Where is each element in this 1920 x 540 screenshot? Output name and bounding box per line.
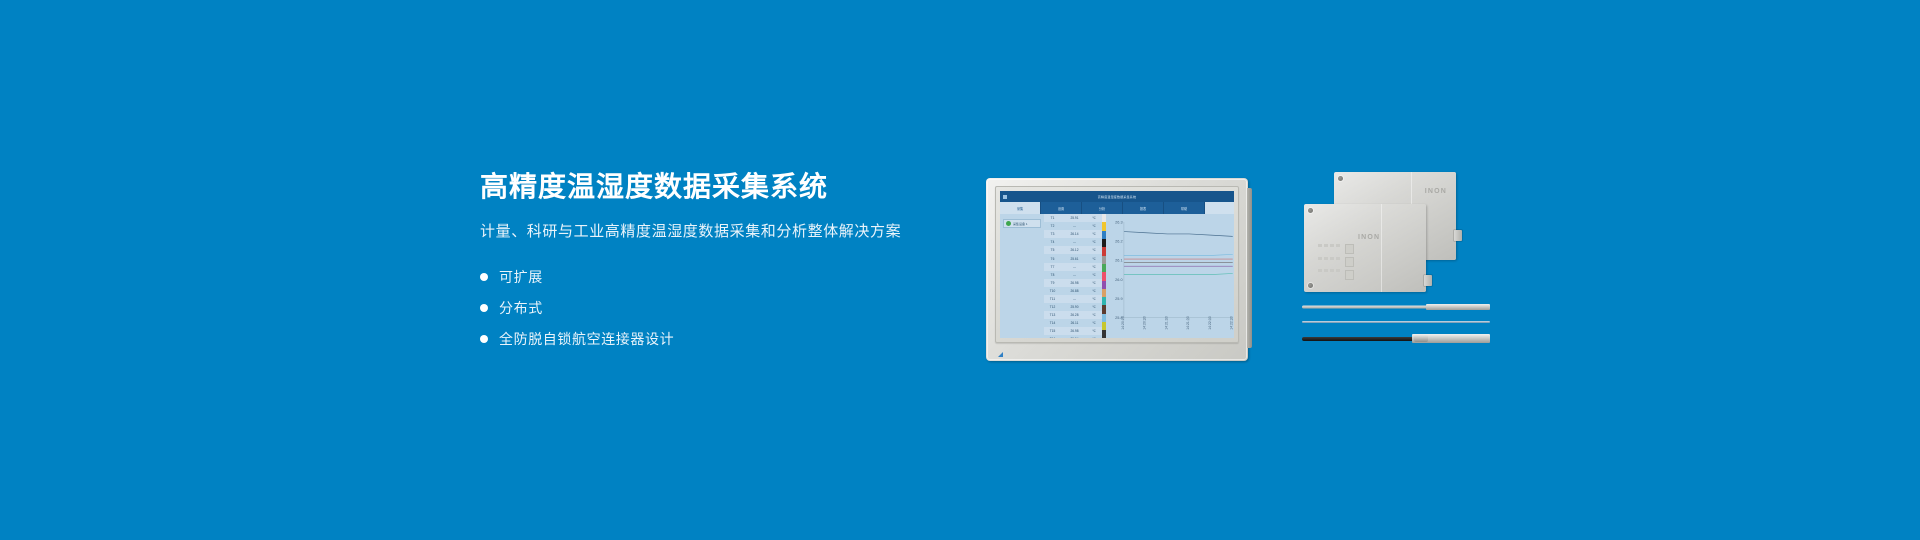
table-row[interactable]: T125.91℃ — [1044, 214, 1102, 222]
feature-list: 可扩展 分布式 全防脱自锁航空连接器设计 — [480, 261, 950, 354]
probe-cable — [1302, 306, 1428, 309]
connector-port — [1454, 230, 1462, 241]
value-cell: --- — [1061, 240, 1088, 244]
y-tick-label: 26.0 — [1115, 277, 1123, 282]
table-row[interactable]: T1625.94℃ — [1044, 335, 1102, 338]
channel-cell: T14 — [1044, 321, 1061, 325]
aviation-connector-probe — [1302, 334, 1490, 343]
x-tick-label: 14:20:10 — [1121, 316, 1125, 330]
table-row[interactable]: T4---℃ — [1044, 238, 1102, 246]
probe-cable — [1302, 321, 1490, 323]
channel-cell: T13 — [1044, 313, 1061, 317]
channel-cell: T1 — [1044, 216, 1061, 220]
app-menu-icon[interactable] — [1003, 195, 1007, 199]
monitor-side-edge — [1247, 188, 1252, 348]
x-tick-label: 14:22:00 — [1208, 316, 1212, 330]
x-tick-label: 14:20:30 — [1143, 316, 1147, 330]
trend-chart[interactable]: 26.326.226.126.025.925.814:20:1014:20:30… — [1106, 214, 1234, 338]
channel-cell: T5 — [1044, 248, 1061, 252]
value-cell: --- — [1061, 297, 1088, 301]
value-cell: --- — [1061, 273, 1088, 277]
channel-cell: T12 — [1044, 305, 1061, 309]
unit-cell: ℃ — [1088, 297, 1100, 301]
screw-icon — [1308, 283, 1313, 288]
terminal-block — [1318, 244, 1354, 280]
tab-help[interactable]: 帮助 — [1164, 202, 1205, 214]
value-cell: 25.90 — [1061, 305, 1088, 309]
unit-cell: ℃ — [1088, 224, 1100, 228]
industrial-panel-pc: 高精度温湿度数据采集系统 采集 设置 分析 报表 帮助 采集设备 1 — [986, 178, 1248, 361]
unit-cell: ℃ — [1088, 281, 1100, 285]
channel-cell: T15 — [1044, 329, 1061, 333]
value-cell: 25.61 — [1061, 257, 1088, 261]
table-row[interactable]: T1426.11℃ — [1044, 319, 1102, 327]
connector-port — [1424, 275, 1432, 286]
chart-axes — [1124, 222, 1233, 318]
app-window-title: 高精度温湿度数据采集系统 — [1098, 195, 1136, 199]
tab-analysis[interactable]: 分析 — [1082, 202, 1123, 214]
slim-probe — [1302, 320, 1490, 324]
value-cell: 25.91 — [1061, 216, 1088, 220]
value-cell: 26.98 — [1061, 329, 1088, 333]
feature-label: 可扩展 — [499, 267, 543, 287]
chart-line-T1 — [1124, 232, 1233, 237]
unit-cell: ℃ — [1088, 305, 1100, 309]
table-row[interactable]: T526.12℃ — [1044, 246, 1102, 254]
value-cell: 25.94 — [1061, 337, 1088, 338]
channel-cell: T8 — [1044, 273, 1061, 277]
list-item: 可扩展 — [480, 261, 950, 292]
value-cell: --- — [1061, 265, 1088, 269]
channel-table[interactable]: T125.91℃T2---℃T326.14℃T4---℃T526.12℃T625… — [1044, 214, 1102, 338]
bullet-dot-icon — [480, 273, 488, 281]
list-item: 分布式 — [480, 292, 950, 323]
channel-cell: T6 — [1044, 257, 1061, 261]
table-row[interactable]: T1225.90℃ — [1044, 303, 1102, 311]
value-cell: --- — [1061, 224, 1088, 228]
app-titlebar: 高精度温湿度数据采集系统 — [1000, 191, 1234, 202]
enclosure-lid — [1381, 204, 1426, 292]
table-row[interactable]: T1526.98℃ — [1044, 327, 1102, 335]
channel-cell: T11 — [1044, 297, 1061, 301]
device-label: 采集设备 1 — [1013, 222, 1028, 226]
page-subtitle: 计量、科研与工业高精度温湿度数据采集和分析整体解决方案 — [480, 222, 950, 242]
x-tick-label: 14:21:30 — [1186, 316, 1190, 330]
feature-label: 全防脱自锁航空连接器设计 — [499, 329, 674, 349]
unit-cell: ℃ — [1088, 265, 1100, 269]
value-cell: 26.88 — [1061, 289, 1088, 293]
status-dot-icon — [1006, 221, 1011, 226]
y-tick-label: 26.2 — [1115, 238, 1122, 243]
y-tick-label: 25.9 — [1115, 296, 1122, 301]
page-title: 高精度温湿度数据采集系统 — [480, 172, 950, 203]
app-body: 采集设备 1 T125.91℃T2---℃T326.14℃T4---℃T526.… — [1000, 214, 1234, 338]
unit-cell: ℃ — [1088, 273, 1100, 277]
stainless-probe — [1302, 304, 1490, 310]
chart-line-T11 — [1124, 273, 1233, 274]
terminal-grid — [1318, 244, 1340, 280]
unit-cell: ℃ — [1088, 313, 1100, 317]
monitor-bezel: 高精度温湿度数据采集系统 采集 设置 分析 报表 帮助 采集设备 1 — [995, 186, 1239, 343]
y-tick-label: 26.1 — [1115, 258, 1122, 263]
tab-acquire[interactable]: 采集 — [1000, 202, 1041, 214]
tabbar-filler — [1205, 202, 1234, 214]
channel-cell: T10 — [1044, 289, 1061, 293]
screw-icon — [1338, 176, 1343, 181]
unit-cell: ℃ — [1088, 337, 1100, 338]
value-cell: 26.98 — [1061, 281, 1088, 285]
x-tick-label: 14:21:00 — [1164, 316, 1168, 330]
device-tree-node[interactable]: 采集设备 1 — [1003, 219, 1041, 228]
table-row[interactable]: T326.14℃ — [1044, 230, 1102, 238]
monitor-screen: 高精度温湿度数据采集系统 采集 设置 分析 报表 帮助 采集设备 1 — [1000, 191, 1234, 338]
value-cell: 26.12 — [1061, 248, 1088, 252]
device-tree-panel: 采集设备 1 — [1000, 214, 1044, 338]
x-tick-label: 14:22:30 — [1230, 316, 1234, 330]
chart-series-group: 26.326.226.126.025.925.814:20:1014:20:30… — [1115, 219, 1234, 330]
table-row[interactable]: T1326.28℃ — [1044, 311, 1102, 319]
value-cell: 26.28 — [1061, 313, 1088, 317]
table-row[interactable]: T1026.88℃ — [1044, 287, 1102, 295]
unit-cell: ℃ — [1088, 329, 1100, 333]
unit-cell: ℃ — [1088, 257, 1100, 261]
channel-cell: T9 — [1044, 281, 1061, 285]
probe-cable — [1302, 337, 1420, 341]
unit-cell: ℃ — [1088, 289, 1100, 293]
channel-cell: T2 — [1044, 224, 1061, 228]
unit-cell: ℃ — [1088, 216, 1100, 220]
tab-report[interactable]: 报表 — [1123, 202, 1164, 214]
unit-cell: ℃ — [1088, 232, 1100, 236]
trend-chart-svg: 26.326.226.126.025.925.814:20:1014:20:30… — [1106, 214, 1234, 338]
tab-settings[interactable]: 设置 — [1041, 202, 1082, 214]
table-row[interactable]: T625.61℃ — [1044, 254, 1102, 262]
feature-label: 分布式 — [499, 298, 543, 318]
channel-cell: T7 — [1044, 265, 1061, 269]
screw-icon — [1308, 208, 1313, 213]
list-item: 全防脱自锁航空连接器设计 — [480, 323, 950, 354]
app-tabbar: 采集 设置 分析 报表 帮助 — [1000, 202, 1234, 214]
monitor-corner-accent — [998, 352, 1004, 358]
channel-cell: T16 — [1044, 337, 1061, 338]
table-row[interactable]: T7---℃ — [1044, 263, 1102, 271]
table-row[interactable]: T2---℃ — [1044, 222, 1102, 230]
channel-cell: T4 — [1044, 240, 1061, 244]
channel-cell: T3 — [1044, 232, 1061, 236]
brand-logo: INON — [1358, 234, 1380, 241]
front-enclosure: INON — [1304, 204, 1426, 292]
unit-cell: ℃ — [1088, 248, 1100, 252]
unit-cell: ℃ — [1088, 321, 1100, 325]
y-tick-label: 26.3 — [1115, 219, 1122, 224]
marketing-copy: 高精度温湿度数据采集系统 计量、科研与工业高精度温湿度数据采集和分析整体解决方案… — [480, 172, 950, 370]
bullet-dot-icon — [480, 335, 488, 343]
table-row[interactable]: T8---℃ — [1044, 271, 1102, 279]
table-row[interactable]: T926.98℃ — [1044, 279, 1102, 287]
banner-stage: 高精度温湿度数据采集系统 计量、科研与工业高精度温湿度数据采集和分析整体解决方案… — [0, 0, 1920, 540]
connector-collar — [1414, 335, 1428, 342]
chart-line-T13 — [1124, 254, 1233, 255]
unit-cell: ℃ — [1088, 240, 1100, 244]
table-row[interactable]: T11---℃ — [1044, 295, 1102, 303]
value-cell: 26.11 — [1061, 321, 1088, 325]
bullet-dot-icon — [480, 304, 488, 312]
probe-tip — [1426, 304, 1490, 310]
value-cell: 26.14 — [1061, 232, 1088, 236]
brand-logo: INON — [1425, 188, 1447, 195]
hardware-group: INON INON — [1300, 172, 1490, 372]
terminal-slots — [1345, 244, 1354, 280]
